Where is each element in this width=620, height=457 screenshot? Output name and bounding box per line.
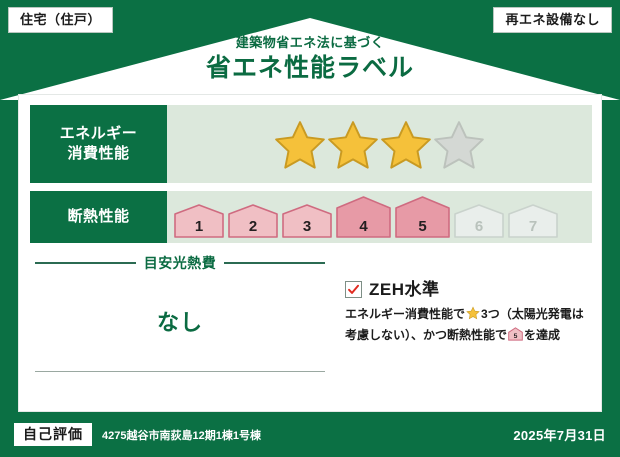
house-icon: 5 <box>394 196 451 238</box>
zeh-description: エネルギー消費性能で3つ（太陽光発電は考慮しない）、かつ断熱性能で5を達成 <box>345 305 591 346</box>
zeh-title-row: ZEH水準 <box>345 281 591 298</box>
energy-performance-row: エネルギー 消費性能 <box>30 105 592 183</box>
property-address: 4275越谷市南荻島12期1棟1号棟 <box>102 427 513 443</box>
issue-date: 2025年7月31日 <box>513 425 606 444</box>
evaluation-type-badge: 自己評価 <box>14 423 92 446</box>
house-grade-number: 6 <box>453 219 505 234</box>
page-title: 省エネ性能ラベル <box>0 53 620 83</box>
insulation-label-text: 断熱性能 <box>67 207 129 227</box>
house-grade-number: 3 <box>281 219 333 234</box>
insulation-performance-row: 断熱性能 1234567 <box>30 191 592 243</box>
house-icon: 7 <box>507 204 559 238</box>
star-icon <box>274 119 326 169</box>
utility-cost-heading-text: 目安光熱費 <box>144 253 217 273</box>
house-icon: 6 <box>453 204 505 238</box>
energy-label-line1: エネルギー <box>60 125 138 142</box>
utility-cost-block: 目安光熱費 なし <box>35 253 325 337</box>
energy-label-line2: 消費性能 <box>67 145 129 162</box>
energy-label-text: エネルギー 消費性能 <box>60 124 138 165</box>
house-grade-number: 4 <box>335 219 392 234</box>
star-icon <box>327 119 379 169</box>
house-icon: 3 <box>281 204 333 238</box>
label-header: 住宅（住戸） 再エネ設備なし 建築物省エネ法に基づく 省エネ性能ラベル <box>0 0 620 100</box>
star-rating <box>274 119 485 169</box>
housing-type-badge: 住宅（住戸） <box>8 7 113 33</box>
house-icon: 2 <box>227 204 279 238</box>
house-icon: 5 <box>508 327 523 347</box>
zeh-desc-part1: エネルギー消費性能で <box>345 307 465 321</box>
house-grade-number: 5 <box>394 219 451 234</box>
star-icon <box>380 119 432 169</box>
svg-text:5: 5 <box>514 333 518 340</box>
energy-rating-cell <box>167 105 592 183</box>
utility-cost-underline <box>35 371 325 372</box>
utility-cost-heading: 目安光熱費 <box>35 253 325 273</box>
title-block: 建築物省エネ法に基づく 省エネ性能ラベル <box>0 36 620 83</box>
zeh-desc-part3: を達成 <box>524 328 560 342</box>
energy-performance-label: 住宅（住戸） 再エネ設備なし 建築物省エネ法に基づく 省エネ性能ラベル エネルギ… <box>0 0 620 457</box>
main-panel: エネルギー 消費性能 断熱性能 1234567 目安光熱費 <box>18 94 602 412</box>
label-footer: 自己評価 4275越谷市南荻島12期1棟1号棟 2025年7月31日 <box>0 412 620 457</box>
heading-rule-left <box>35 262 136 264</box>
house-icon: 4 <box>335 196 392 238</box>
house-grade-number: 1 <box>173 219 225 234</box>
insulation-grade-cell: 1234567 <box>167 191 592 243</box>
zeh-title: ZEH水準 <box>369 281 440 298</box>
house-grade-scale: 1234567 <box>173 196 559 238</box>
renewable-equipment-badge: 再エネ設備なし <box>493 7 612 33</box>
energy-performance-label-cell: エネルギー 消費性能 <box>30 105 167 183</box>
insulation-performance-label-cell: 断熱性能 <box>30 191 167 243</box>
zeh-standard-block: ZEH水準 エネルギー消費性能で3つ（太陽光発電は考慮しない）、かつ断熱性能で5… <box>345 281 591 346</box>
house-grade-number: 7 <box>507 219 559 234</box>
star-icon <box>466 306 480 326</box>
checkmark-icon <box>345 281 362 298</box>
star-icon <box>433 119 485 169</box>
utility-cost-value: なし <box>35 305 325 337</box>
house-icon: 1 <box>173 204 225 238</box>
heading-rule-right <box>224 262 325 264</box>
label-subtitle: 建築物省エネ法に基づく <box>0 36 620 50</box>
house-grade-number: 2 <box>227 219 279 234</box>
